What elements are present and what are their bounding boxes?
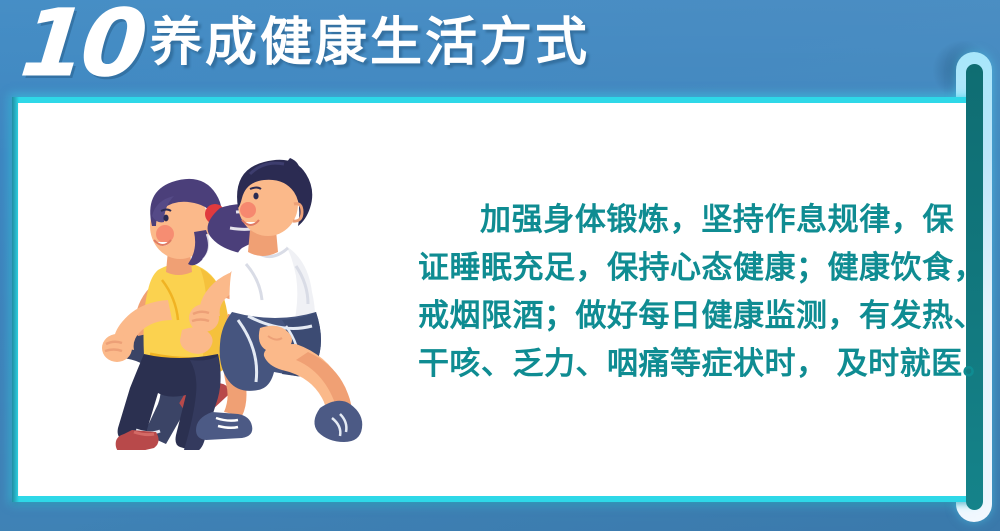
section-number-badge: 10 bbox=[17, 0, 147, 91]
paragraph-line-1: 加强身体锻炼，坚持作息规律，保 bbox=[418, 196, 954, 244]
card-left-edge-shadow bbox=[12, 97, 19, 502]
header: 10 养成健康生活方式 bbox=[0, 0, 1000, 95]
page-title: 养成健康生活方式 bbox=[150, 8, 590, 78]
poster-root: 10 养成健康生活方式 bbox=[0, 0, 1000, 531]
paragraph-line-2: 证睡眠充足，保持心态健康；健康饮食， bbox=[418, 244, 954, 292]
runners-illustration-svg bbox=[40, 130, 420, 450]
runners-illustration bbox=[40, 130, 420, 450]
binder-clip-inner-bar bbox=[966, 64, 983, 510]
paragraph-line-3: 戒烟限酒；做好每日健康监测，有发热、 bbox=[418, 292, 954, 340]
body-paragraph: 加强身体锻炼，坚持作息规律，保 证睡眠充足，保持心态健康；健康饮食， 戒烟限酒；… bbox=[418, 196, 954, 388]
paragraph-line-4: 干咳、乏力、咽痛等症状时， 及时就医。 bbox=[418, 340, 954, 388]
